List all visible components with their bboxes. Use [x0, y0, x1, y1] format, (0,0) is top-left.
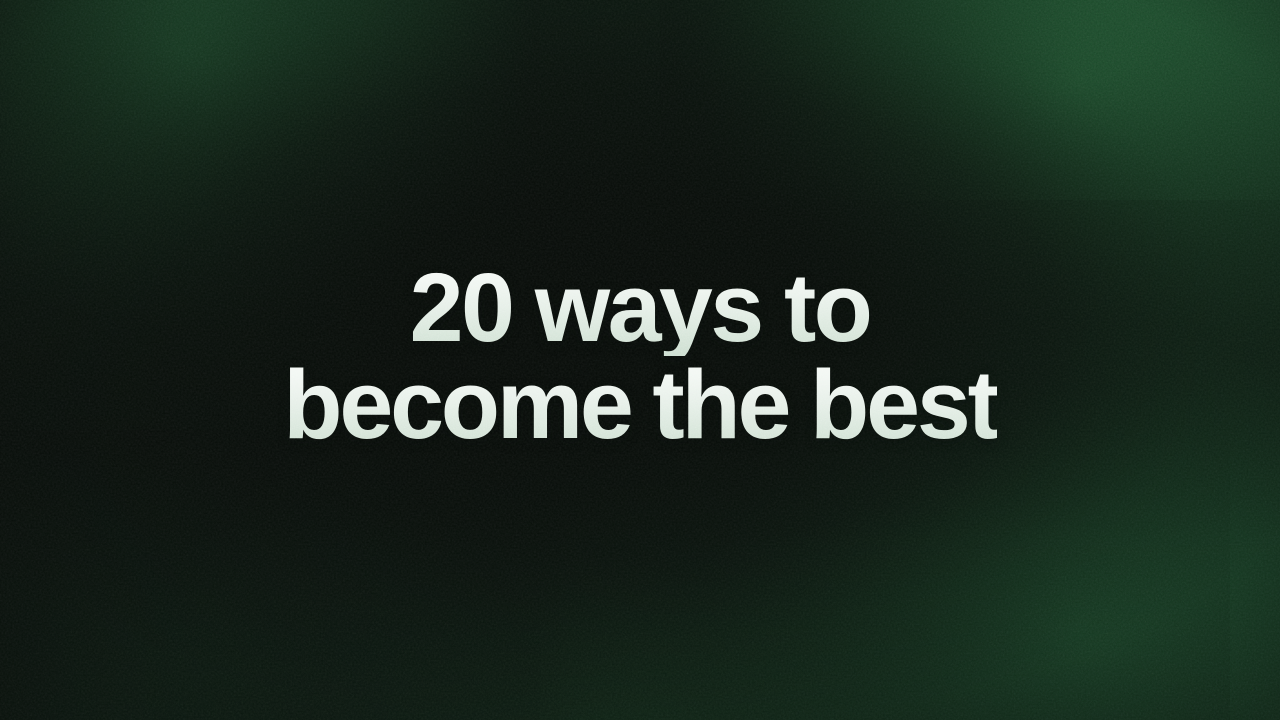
headline-line-1: 20 ways to	[283, 259, 996, 356]
headline-container: 20 ways to become the best	[0, 0, 1280, 720]
headline-line-2: become the best	[283, 356, 996, 453]
page-title: 20 ways to become the best	[283, 259, 996, 453]
title-slide: 20 ways to become the best	[0, 0, 1280, 720]
